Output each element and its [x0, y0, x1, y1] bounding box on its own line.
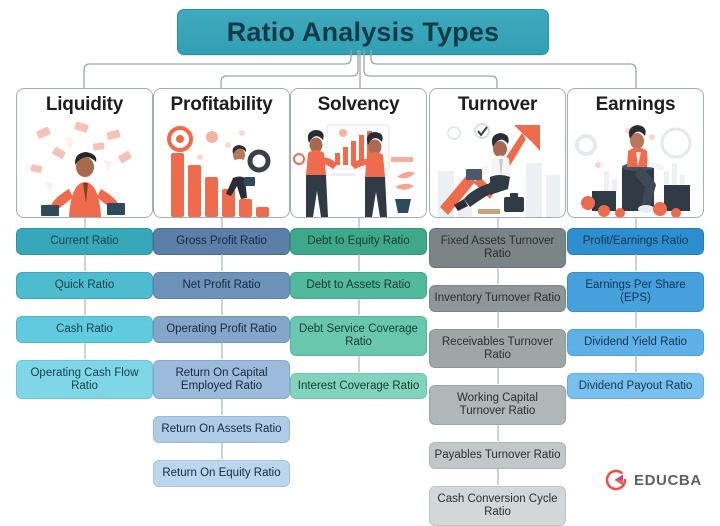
card-solvency: Solvency — [290, 88, 427, 218]
list-liquidity: Current Ratio Quick Ratio Cash Ratio Ope… — [16, 228, 153, 399]
page-title-text: Ratio Analysis Types — [227, 17, 500, 48]
list-item[interactable]: Operating Cash Flow Ratio — [16, 360, 153, 400]
tree-connectors — [0, 50, 720, 92]
column-liquidity: Liquidity — [16, 88, 153, 399]
list-item[interactable]: Profit/Earnings Ratio — [567, 228, 704, 255]
column-header-solvency: Solvency — [291, 94, 426, 116]
two-people-presenting-chart-illustration — [291, 119, 426, 217]
column-header-earnings: Earnings — [568, 94, 703, 116]
infographic-canvas: Ratio Analysis Types Liquidity — [0, 0, 720, 509]
person-sitting-on-coin-stacks-illustration — [568, 119, 703, 217]
list-item[interactable]: Earnings Per Share (EPS) — [567, 272, 704, 312]
list-item[interactable]: Return On Assets Ratio — [153, 416, 290, 443]
list-item[interactable]: Gross Profit Ratio — [153, 228, 290, 255]
list-item[interactable]: Working Capital Turnover Ratio — [429, 385, 566, 425]
bar-chart-climber-illustration — [154, 119, 289, 217]
list-item[interactable]: Payables Turnover Ratio — [429, 442, 566, 469]
page-title: Ratio Analysis Types — [177, 9, 549, 55]
list-item[interactable]: Current Ratio — [16, 228, 153, 255]
educba-e-mark-icon — [604, 468, 628, 492]
list-item[interactable]: Operating Profit Ratio — [153, 316, 290, 343]
list-solvency: Debt to Equity Ratio Debt to Assets Rati… — [290, 228, 427, 399]
column-header-turnover: Turnover — [430, 94, 565, 116]
column-header-liquidity: Liquidity — [17, 94, 152, 116]
list-item[interactable]: Return On Capital Employed Ratio — [153, 360, 290, 400]
card-profitability: Profitability — [153, 88, 290, 218]
list-profitability: Gross Profit Ratio Net Profit Ratio Oper… — [153, 228, 290, 487]
column-header-profitability: Profitability — [154, 94, 289, 116]
educba-logo-text: EDUCBA — [634, 472, 702, 489]
card-earnings: Earnings — [567, 88, 704, 218]
person-riding-growth-arrow-illustration — [430, 119, 565, 217]
list-item[interactable]: Dividend Yield Ratio — [567, 329, 704, 356]
card-turnover: Turnover — [429, 88, 566, 218]
list-item[interactable]: Debt Service Coverage Ratio — [290, 316, 427, 356]
card-liquidity: Liquidity — [16, 88, 153, 218]
list-item[interactable]: Debt to Equity Ratio — [290, 228, 427, 255]
list-item[interactable]: Dividend Payout Ratio — [567, 373, 704, 400]
man-juggling-money-illustration — [17, 119, 152, 217]
column-solvency: Solvency — [290, 88, 427, 399]
column-earnings: Earnings — [567, 88, 704, 399]
list-earnings: Profit/Earnings Ratio Earnings Per Share… — [567, 228, 704, 399]
list-item[interactable]: Receivables Turnover Ratio — [429, 329, 566, 369]
list-item[interactable]: Fixed Assets Turnover Ratio — [429, 228, 566, 268]
list-item[interactable]: Net Profit Ratio — [153, 272, 290, 299]
list-item[interactable]: Interest Coverage Ratio — [290, 373, 427, 400]
list-turnover: Fixed Assets Turnover Ratio Inventory Tu… — [429, 228, 566, 526]
list-item[interactable]: Cash Conversion Cycle Ratio — [429, 486, 566, 526]
educba-logo: EDUCBA — [604, 468, 702, 492]
list-item[interactable]: Quick Ratio — [16, 272, 153, 299]
column-turnover: Turnover — [429, 88, 566, 526]
list-item[interactable]: Inventory Turnover Ratio — [429, 285, 566, 312]
list-item[interactable]: Debt to Assets Ratio — [290, 272, 427, 299]
column-profitability: Profitability — [153, 88, 290, 487]
columns-container: Liquidity — [0, 88, 720, 509]
list-item[interactable]: Return On Equity Ratio — [153, 460, 290, 487]
list-item[interactable]: Cash Ratio — [16, 316, 153, 343]
